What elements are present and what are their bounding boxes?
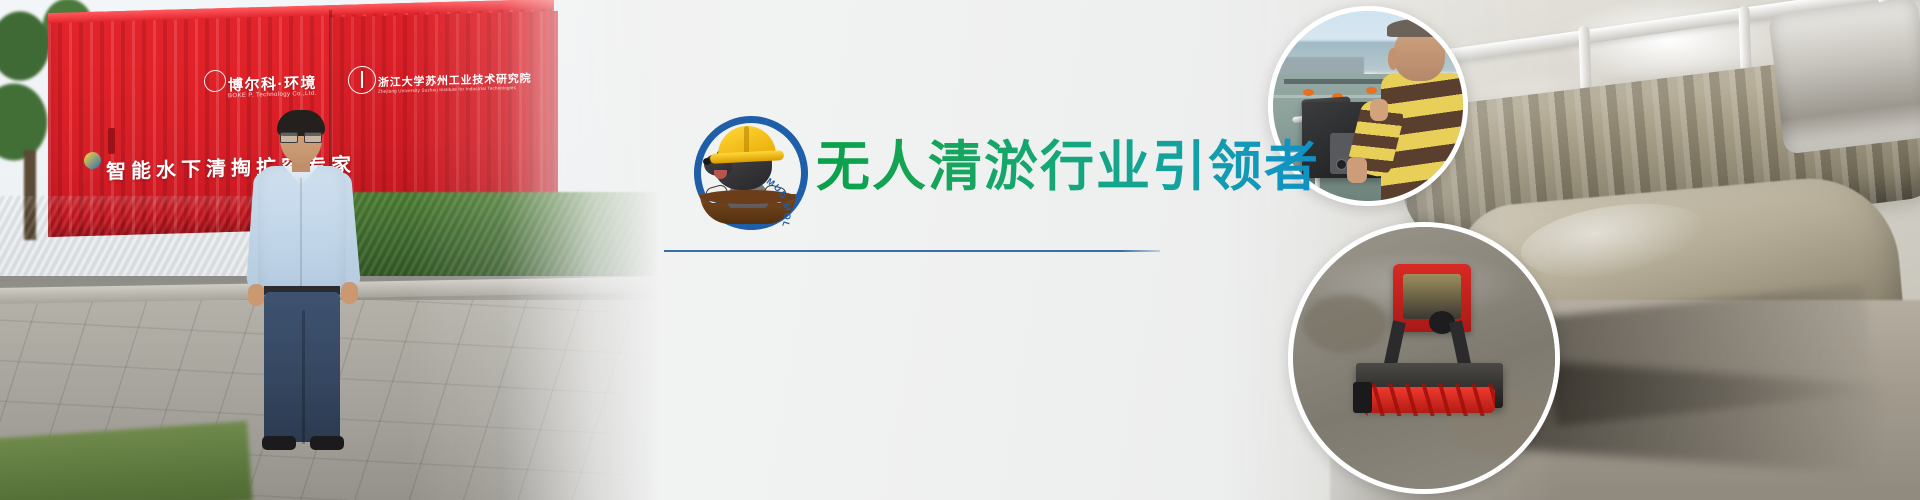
engineer-figure [248,114,358,444]
engineer-left-shoe [262,436,296,450]
engineer-trouser-seam [302,310,305,444]
center-content: MUD MOLE 无人清淤行业引领者 [660,0,1260,500]
engineer-right-hand [341,282,358,304]
logo-hard-hat-rib [744,126,749,154]
operator-hand-left [1347,157,1367,183]
engineer-shirt [258,166,346,292]
svg-text:MUD MOLE: MUD MOLE [756,172,792,229]
title-divider [664,250,1160,252]
circle-float-buoy [1366,87,1377,94]
mud-mole-logo: MUD MOLE [688,108,808,228]
left-photo-container-and-engineer: 博尔科·环境 BOKE P. Technology Co.,Ltd. 浙江大学苏… [0,0,660,500]
engineer-left-hand [248,284,265,306]
logo-arc-text-label: MUD MOLE [756,172,792,229]
engineer-shirt-placket [300,178,302,286]
engineer-right-shoe [310,436,344,450]
hero-banner: 博尔科·环境 BOKE P. Technology Co.,Ltd. 浙江大学苏… [0,0,1920,500]
sludge-patch [1303,295,1387,353]
container-latch [108,128,115,154]
page-title: 无人清淤行业引领者 [816,122,1320,201]
logo-arc-text: MUD MOLE [760,180,816,236]
operator-figure [1378,19,1469,201]
operator-hand-right [1370,99,1388,121]
robot-auger-flighting [1364,384,1495,415]
robot-chassis-interior [1403,274,1461,319]
pipe-metal-flange [1768,0,1920,155]
remote-console-joystick [1336,159,1347,170]
robot-auger-end-cap [1353,382,1371,413]
engineer-glasses [280,132,322,141]
operator-cap [1387,19,1453,37]
circle-photo-dredging-robot [1288,222,1560,494]
